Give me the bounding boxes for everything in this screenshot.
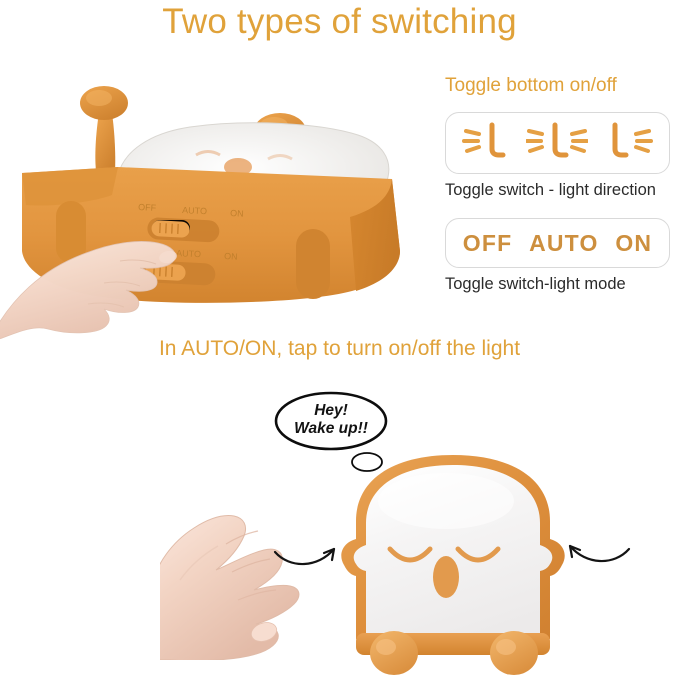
page-title: Two types of switching	[0, 2, 679, 42]
toast-night-light[interactable]	[328, 443, 578, 678]
product-grip-right	[296, 229, 330, 299]
toast-mouth	[433, 556, 459, 598]
speech-bubble-text: Hey! Wake up!!	[272, 402, 390, 438]
speech-line-2: Wake up!!	[272, 420, 390, 438]
svg-text:ON: ON	[230, 208, 244, 219]
product-photo-bottom-switches: OFF AUTO ON OFF AUTO ON	[0, 55, 430, 340]
light-mode-box[interactable]: OFF AUTO ON	[445, 218, 670, 268]
product-grip-left	[56, 201, 86, 263]
mode-option-off[interactable]: OFF	[463, 230, 513, 257]
toast-foot-left	[370, 631, 418, 675]
light-right-icon	[601, 121, 653, 166]
light-left-icon	[462, 121, 514, 166]
direction-heading: Toggle bottom on/off	[445, 75, 617, 97]
speech-line-1: Hey!	[272, 402, 390, 420]
svg-text:OFF: OFF	[138, 202, 157, 213]
infographic-page: Two types of switching	[0, 0, 679, 683]
mode-option-auto[interactable]: AUTO	[529, 230, 599, 257]
svg-text:AUTO: AUTO	[182, 205, 207, 216]
svg-text:ON: ON	[224, 251, 238, 262]
svg-text:AUTO: AUTO	[176, 248, 201, 259]
product-leg-left	[80, 86, 128, 173]
light-both-icon	[526, 121, 588, 166]
auto-on-instruction: In AUTO/ON, tap to turn on/off the light	[0, 337, 679, 361]
toast-foot-right	[490, 631, 538, 675]
mode-caption: Toggle switch-light mode	[445, 275, 626, 294]
direction-caption: Toggle switch - light direction	[445, 181, 656, 200]
mode-option-on[interactable]: ON	[615, 230, 652, 257]
light-direction-box[interactable]	[445, 112, 670, 174]
